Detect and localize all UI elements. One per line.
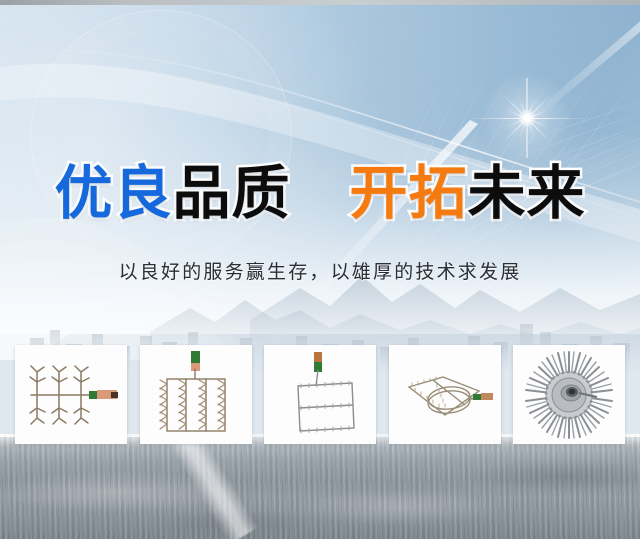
comb-anchor-rake-icon (19, 352, 123, 438)
ground-surface (0, 434, 640, 539)
ground-shading (0, 434, 640, 539)
product-card[interactable] (389, 345, 501, 444)
product-card[interactable] (140, 345, 252, 444)
top-strip (0, 0, 640, 5)
ring-plate-anchor-icon (395, 357, 495, 433)
radial-star-anchor-icon (523, 349, 615, 441)
double-row-spike-anchor-icon (153, 349, 239, 441)
rectangular-frame-anchor-icon (276, 350, 364, 440)
product-card[interactable] (15, 345, 127, 444)
headline-part-1: 优良 (54, 159, 172, 227)
product-card[interactable] (264, 345, 376, 444)
headline-spacer (290, 159, 349, 227)
page-subtitle: 以良好的服务赢生存，以雄厚的技术求发展 (0, 261, 640, 284)
product-card[interactable] (513, 345, 625, 444)
headline-part-2: 品质 (172, 159, 290, 227)
promo-banner: 优良品质 开拓未来 以良好的服务赢生存，以雄厚的技术求发展 (0, 0, 640, 539)
product-card-row (15, 345, 625, 444)
page-title: 优良品质 开拓未来 (0, 164, 640, 222)
headline-part-4: 未来 (468, 159, 586, 227)
headline-part-3: 开拓 (350, 159, 468, 227)
